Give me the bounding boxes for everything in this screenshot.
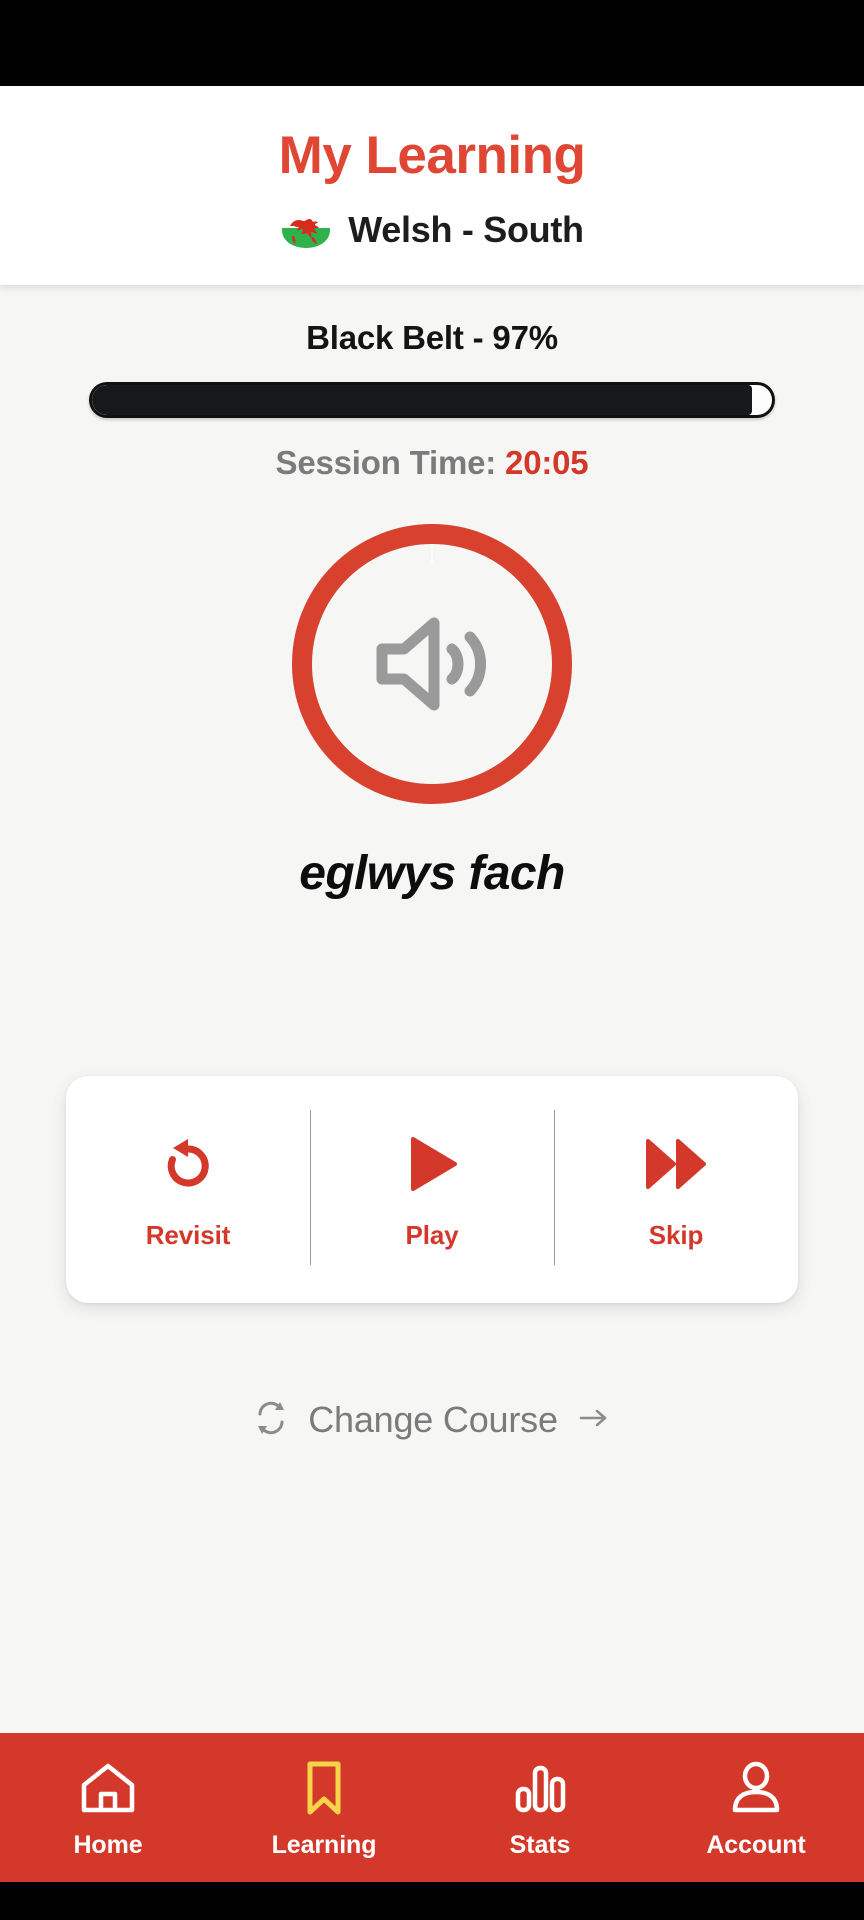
bookmark-icon [300, 1759, 348, 1817]
change-course-link[interactable]: Change Course [254, 1399, 610, 1442]
skip-label: Skip [649, 1220, 704, 1251]
nav-item-account[interactable]: Account [648, 1759, 864, 1860]
bar-chart-icon [512, 1759, 568, 1817]
audio-play-circle-button[interactable] [292, 524, 572, 804]
current-phrase: eglwys fach [299, 846, 565, 901]
belt-progress-label: Black Belt - 97% [306, 319, 558, 357]
belt-progress-bar [89, 382, 775, 418]
person-icon [728, 1759, 784, 1817]
nav-label-stats: Stats [510, 1831, 571, 1860]
playback-controls-card: Revisit Play Skip [66, 1076, 798, 1303]
play-label: Play [405, 1220, 458, 1251]
app-header: My Learning Welsh - South [0, 86, 864, 285]
nav-label-home: Home [73, 1831, 142, 1860]
ring-notch-marker [431, 544, 433, 564]
session-time-value: 20:05 [505, 444, 588, 481]
play-triangle-icon [405, 1132, 459, 1196]
progress-track [89, 382, 775, 418]
status-bar-bottom [0, 1882, 864, 1920]
nav-label-account: Account [706, 1831, 805, 1860]
course-name-label: Welsh - South [348, 209, 583, 251]
change-course-label: Change Course [308, 1399, 558, 1441]
rotate-left-icon [159, 1132, 217, 1196]
main-content: Black Belt - 97% Session Time: 20:05 [0, 285, 864, 1733]
arrow-right-icon [578, 1406, 610, 1435]
nav-item-stats[interactable]: Stats [432, 1759, 648, 1860]
play-button[interactable]: Play [310, 1132, 554, 1251]
bottom-navigation: Home Learning Stats [0, 1733, 864, 1882]
progress-fill [92, 385, 752, 415]
skip-button[interactable]: Skip [554, 1132, 798, 1251]
revisit-button[interactable]: Revisit [66, 1132, 310, 1251]
status-bar-top [0, 0, 864, 86]
speaker-volume-icon [370, 609, 494, 719]
current-course[interactable]: Welsh - South [0, 209, 864, 251]
refresh-icon [254, 1399, 288, 1442]
revisit-label: Revisit [146, 1220, 231, 1251]
fast-forward-icon [643, 1132, 709, 1196]
nav-label-learning: Learning [272, 1831, 377, 1860]
nav-item-learning[interactable]: Learning [216, 1759, 432, 1860]
page-title: My Learning [0, 128, 864, 184]
house-icon [79, 1759, 137, 1817]
session-time-label: Session Time: [276, 444, 497, 481]
session-time: Session Time: 20:05 [276, 444, 589, 482]
nav-item-home[interactable]: Home [0, 1759, 216, 1860]
welsh-dragon-flag-icon [280, 210, 332, 250]
app-root: My Learning Welsh - South Black Belt - 9… [0, 0, 864, 1920]
